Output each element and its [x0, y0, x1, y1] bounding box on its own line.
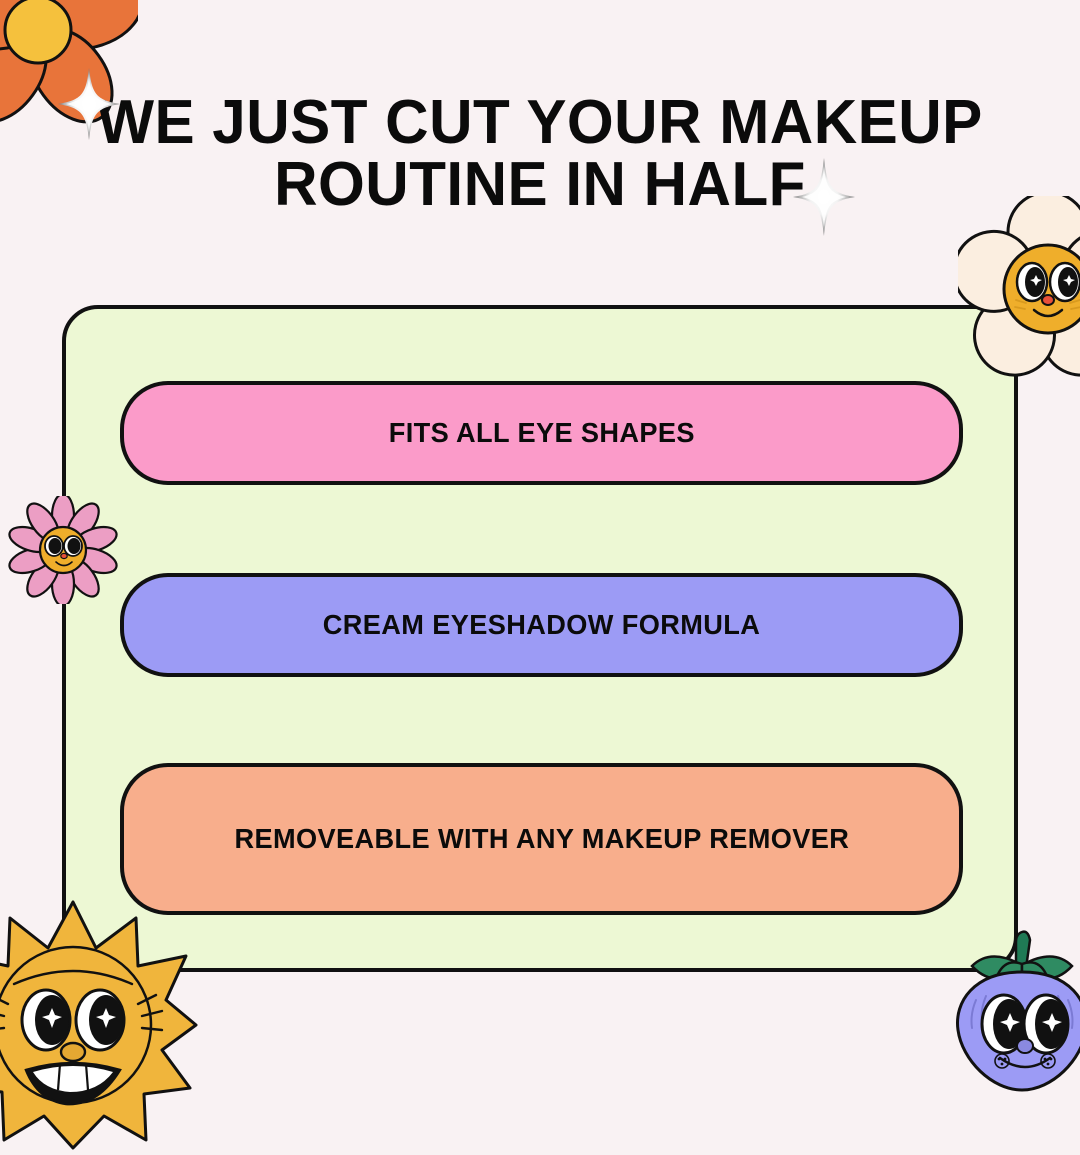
headline-line-2: ROUTINE IN HALF	[16, 154, 1064, 216]
daisy-flower-icon	[958, 196, 1080, 382]
feature-label: FITS ALL EYE SHAPES	[350, 411, 734, 454]
feature-pill-removeable-with-any-makeup-remover[interactable]: REMOVEABLE WITH ANY MAKEUP REMOVER	[120, 763, 963, 915]
feature-label: CREAM EYESHADOW FORMULA	[284, 603, 799, 646]
sparkle-icon-headline	[793, 158, 855, 236]
strawberry-icon	[946, 928, 1080, 1093]
poster-canvas: WE JUST CUT YOUR MAKEUP ROUTINE IN HALF …	[0, 0, 1080, 1080]
feature-pill-cream-eyeshadow-formula[interactable]: CREAM EYESHADOW FORMULA	[120, 573, 963, 677]
headline-line-1: WE JUST CUT YOUR MAKEUP	[16, 92, 1064, 154]
page-title: WE JUST CUT YOUR MAKEUP ROUTINE IN HALF	[0, 92, 1080, 216]
sparkle-icon-top-left	[58, 68, 120, 140]
feature-label: REMOVEABLE WITH ANY MAKEUP REMOVER	[195, 817, 887, 860]
feature-pill-fits-all-eye-shapes[interactable]: FITS ALL EYE SHAPES	[120, 381, 963, 485]
pink-flower-icon	[8, 496, 118, 604]
sun-icon	[0, 900, 198, 1150]
